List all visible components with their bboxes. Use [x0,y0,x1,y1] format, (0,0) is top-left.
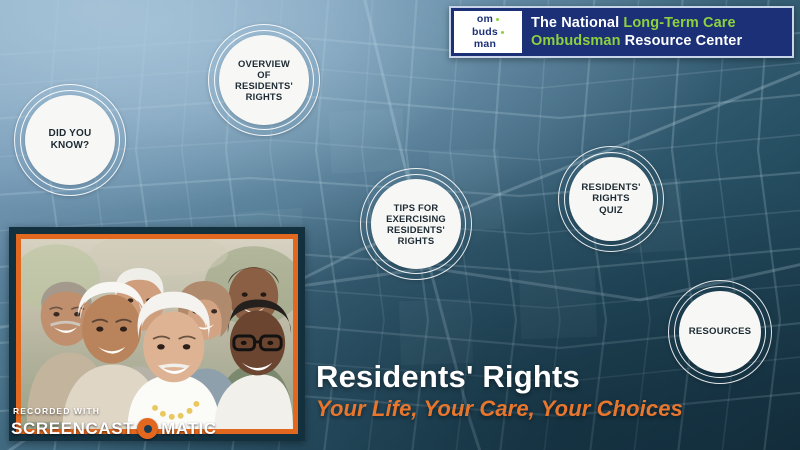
logo-dot-icon [501,31,504,34]
bubble-quiz[interactable]: RESIDENTS' RIGHTS QUIZ [558,146,664,252]
banner-line-1-white: The National [531,15,619,31]
page-subtitle: Your Life, Your Care, Your Choices [316,396,683,422]
banner-line-1-green: Long-Term Care [623,15,735,31]
photo-panel [9,227,305,441]
bubble-disc: OVERVIEW OF RESIDENTS' RIGHTS [219,35,309,125]
bubble-line: RIGHTS [592,193,629,204]
bubble-disc: TIPS FOR EXERCISING RESIDENTS' RIGHTS [371,179,461,269]
logo-line-om: om [477,13,499,26]
bubble-label-did-you-know: DID YOU KNOW? [49,128,92,152]
page-title: Residents' Rights [316,359,580,395]
ombudsman-logo: om buds man [454,11,522,53]
photo-illustration-svg [21,239,293,429]
logo-text-man: man [474,38,496,51]
logo-line-man: man [474,38,502,51]
banner-line-2: Ombudsman Resource Center [531,32,792,50]
photo-orange-frame [16,234,298,434]
bubble-label-overview: OVERVIEW OF RESIDENTS' RIGHTS [235,58,293,102]
bubble-label-resources: RESOURCES [689,326,752,337]
logo-dot-icon [496,18,499,21]
bubble-line: QUIZ [599,205,623,216]
bubble-line: RESIDENTS' [235,80,293,91]
banner-line-1: The National Long-Term Care [531,14,792,32]
bubble-line: DID YOU [49,128,92,139]
bubble-line: RESIDENTS' [387,224,445,235]
bubble-disc: RESOURCES [679,291,761,373]
bubble-line: KNOW? [51,140,90,151]
logo-line-buds: buds [472,26,504,39]
bubble-line: OVERVIEW [238,58,290,69]
banner-title-block: The National Long-Term Care Ombudsman Re… [522,8,792,56]
bubble-line: RIGHTS [398,235,435,246]
bubble-overview[interactable]: OVERVIEW OF RESIDENTS' RIGHTS [208,24,320,136]
logo-text-buds: buds [472,26,498,39]
bubble-line: RIGHTS [246,91,283,102]
logo-text-om: om [477,13,493,26]
bubble-did-you-know[interactable]: DID YOU KNOW? [14,84,126,196]
bubble-resources[interactable]: RESOURCES [668,280,772,384]
bubble-disc: DID YOU KNOW? [25,95,115,185]
bubble-label-quiz: RESIDENTS' RIGHTS QUIZ [581,182,640,216]
banner-line-2-white: Resource Center [625,33,743,49]
slide-canvas: om buds man The National Long-Term Care … [0,0,800,450]
bubble-line: TIPS FOR [394,202,439,213]
bubble-disc: RESIDENTS' RIGHTS QUIZ [569,157,653,241]
photo-seniors-group [21,239,293,429]
bubble-line: EXERCISING [386,213,446,224]
banner-line-2-green: Ombudsman [531,33,621,49]
ombudsman-banner: om buds man The National Long-Term Care … [449,6,794,58]
bubble-tips[interactable]: TIPS FOR EXERCISING RESIDENTS' RIGHTS [360,168,472,280]
bubble-label-tips: TIPS FOR EXERCISING RESIDENTS' RIGHTS [386,202,446,246]
bubble-line: RESOURCES [689,326,752,337]
bubble-line: OF [257,69,270,80]
bubble-line: RESIDENTS' [581,182,640,193]
